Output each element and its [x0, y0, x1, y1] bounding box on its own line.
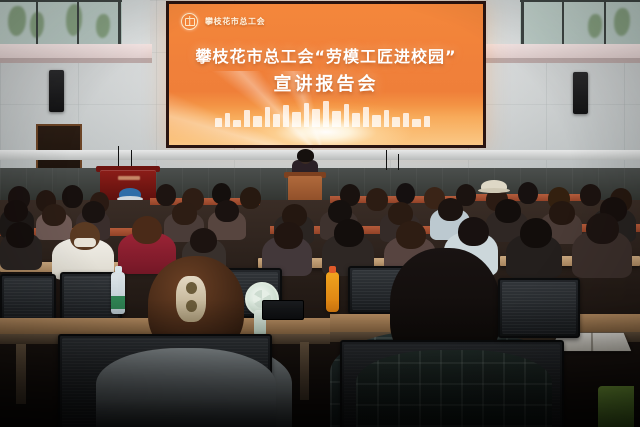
presenter-hair — [297, 149, 314, 162]
attendee-head — [396, 221, 426, 249]
attendee-head — [438, 198, 463, 221]
screen-surface: 攀枝花市总工会 攀枝花市总工会“劳模工匠进校园” 宣讲报告会 — [169, 4, 483, 145]
balcony-glass-railing-left — [0, 0, 122, 48]
balcony-plant-icon — [96, 14, 110, 38]
green-bag[interactable] — [598, 386, 634, 427]
microphone-stand — [118, 146, 119, 168]
balcony-glass-railing-right — [520, 0, 640, 48]
attendee-head — [458, 217, 489, 246]
microphone-stand — [398, 154, 399, 170]
attendee-head — [520, 218, 552, 248]
railing-post — [604, 0, 606, 46]
microphone-stand — [386, 150, 387, 170]
attendee-head — [215, 200, 239, 222]
attendee-head — [366, 188, 388, 211]
attendee-head — [518, 182, 538, 204]
attendee-head — [549, 201, 575, 225]
balcony-plant-icon — [588, 14, 602, 38]
screen-title-sub: 宣讲报告会 — [169, 70, 483, 96]
attendee-grey-top — [96, 348, 276, 427]
screen-logo-text: 攀枝花市总工会 — [205, 16, 265, 27]
railing-post — [562, 0, 564, 46]
balcony-plant-icon — [614, 8, 630, 36]
attendee-head — [4, 200, 28, 222]
screen-logo-row: 攀枝花市总工会 — [181, 13, 265, 30]
railing-top-bar — [0, 0, 122, 2]
stage-wall-lip — [0, 150, 640, 160]
railing-post — [118, 0, 121, 48]
railing-post — [36, 0, 38, 46]
attendee-head — [132, 216, 162, 244]
wall-speaker — [49, 70, 64, 112]
union-emblem-icon — [181, 13, 198, 30]
bottle-label — [111, 296, 125, 309]
water-bottle[interactable] — [111, 272, 125, 314]
desk-leg — [300, 342, 309, 400]
cap-brim — [478, 188, 510, 193]
device-on-desk[interactable] — [262, 300, 304, 320]
attendee-head — [274, 222, 303, 249]
attendee-head — [396, 183, 415, 204]
railing-top-bar — [520, 0, 640, 2]
attendee-head — [6, 222, 34, 248]
balcony-slab-edge-right — [486, 58, 640, 63]
attendee-head — [580, 184, 601, 206]
attendee-head — [172, 202, 197, 225]
projection-screen: 攀枝花市总工会 攀枝花市总工会“劳模工匠进校园” 宣讲报告会 — [166, 1, 486, 148]
attendee-head — [42, 204, 66, 226]
mesh-office-chair[interactable] — [498, 278, 580, 338]
attendee-head — [334, 219, 364, 247]
desk-leg — [16, 344, 26, 404]
lecture-hall-photo: 攀枝花市总工会 攀枝花市总工会“劳模工匠进校园” 宣讲报告会 — [0, 0, 640, 427]
attendee-head — [82, 201, 105, 223]
attendee-head — [495, 199, 521, 223]
balcony-plant-icon — [8, 6, 26, 36]
attendee-plaid-shirt — [356, 350, 552, 427]
hair-clip-bead — [186, 282, 197, 294]
attendee-head — [240, 187, 261, 209]
wall-speaker — [573, 72, 588, 114]
hair-clip-bead — [186, 300, 197, 312]
screen-bottom-glow — [169, 105, 483, 145]
orange-juice-bottle[interactable] — [326, 272, 339, 312]
attendee-head — [190, 228, 217, 253]
screen-title-main: 攀枝花市总工会“劳模工匠进校园” — [169, 43, 483, 67]
attendee-head — [156, 184, 176, 206]
hair-clip-icon — [74, 238, 96, 247]
railing-post — [77, 0, 79, 46]
railing-post — [521, 0, 524, 48]
attendee-head — [586, 213, 619, 244]
mesh-office-chair[interactable] — [0, 274, 56, 324]
lectern-emblem-icon — [118, 176, 140, 180]
balcony-plant-icon — [66, 4, 82, 36]
attendee-head — [62, 185, 83, 208]
balcony-slab-edge-left — [0, 58, 152, 63]
